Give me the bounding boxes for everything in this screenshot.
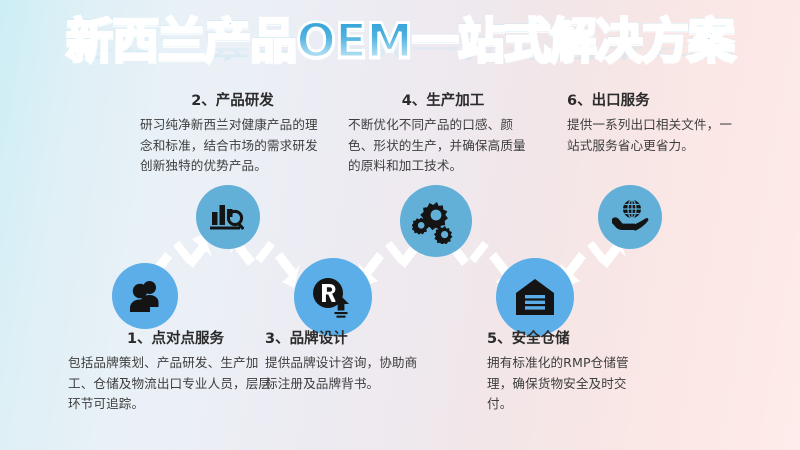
step-circle-1[interactable] — [112, 263, 178, 329]
step-body-3: 提供品牌设计咨询，协助商标注册及品牌背书。 — [265, 353, 430, 394]
step-body-6: 提供一系列出口相关文件，一站式服务省心更省力。 — [567, 115, 742, 156]
step-heading-3: 3、品牌设计 — [265, 330, 430, 348]
warehouse-icon — [514, 277, 556, 317]
step-body-1: 包括品牌策划、产品研发、生产加工、仓储及物流出口专业人员，层层环节可追踪。 — [68, 353, 283, 414]
step-circle-6[interactable] — [598, 185, 662, 249]
step-text-5: 5、安全仓储 拥有标准化的RMP仓储管理，确保货物安全及时交付。 — [487, 330, 647, 414]
infographic-poster: 新西兰产品OEM一站式解决方案 新西兰产品OEM一站式解决方案 — [0, 0, 800, 450]
step-circle-3[interactable] — [294, 258, 372, 336]
users-icon — [127, 279, 163, 313]
chart-search-icon — [210, 200, 246, 234]
step-heading-4: 4、生产加工 — [348, 92, 538, 110]
poster-title-text: 新西兰产品OEM一站式解决方案 — [66, 18, 734, 65]
step-heading-5: 5、安全仓储 — [487, 330, 647, 348]
step-heading-6: 6、出口服务 — [567, 92, 742, 110]
poster-title: 新西兰产品OEM一站式解决方案 — [0, 18, 800, 65]
trademark-upload-icon — [311, 276, 355, 318]
hand-globe-icon — [610, 199, 650, 235]
step-text-6: 6、出口服务 提供一系列出口相关文件，一站式服务省心更省力。 — [567, 92, 742, 156]
step-circle-2[interactable] — [196, 185, 260, 249]
step-body-5: 拥有标准化的RMP仓储管理，确保货物安全及时交付。 — [487, 353, 647, 414]
step-body-2: 研习纯净新西兰对健康产品的理念和标准，结合市场的需求研发创新独特的优势产品。 — [140, 115, 325, 176]
step-circle-4[interactable] — [400, 185, 472, 257]
step-text-1: 1、点对点服务 包括品牌策划、产品研发、生产加工、仓储及物流出口专业人员，层层环… — [68, 330, 283, 414]
step-text-4: 4、生产加工 不断优化不同产品的口感、颜色、形状的生产，并确保高质量的原料和加工… — [348, 92, 538, 176]
step-body-4: 不断优化不同产品的口感、颜色、形状的生产，并确保高质量的原料和加工技术。 — [348, 115, 538, 176]
step-text-3: 3、品牌设计 提供品牌设计咨询，协助商标注册及品牌背书。 — [265, 330, 430, 394]
step-heading-2: 2、产品研发 — [140, 92, 325, 110]
step-heading-1: 1、点对点服务 — [68, 330, 283, 348]
step-text-2: 2、产品研发 研习纯净新西兰对健康产品的理念和标准，结合市场的需求研发创新独特的… — [140, 92, 325, 176]
step-circle-5[interactable] — [496, 258, 574, 336]
gears-icon — [412, 198, 460, 244]
